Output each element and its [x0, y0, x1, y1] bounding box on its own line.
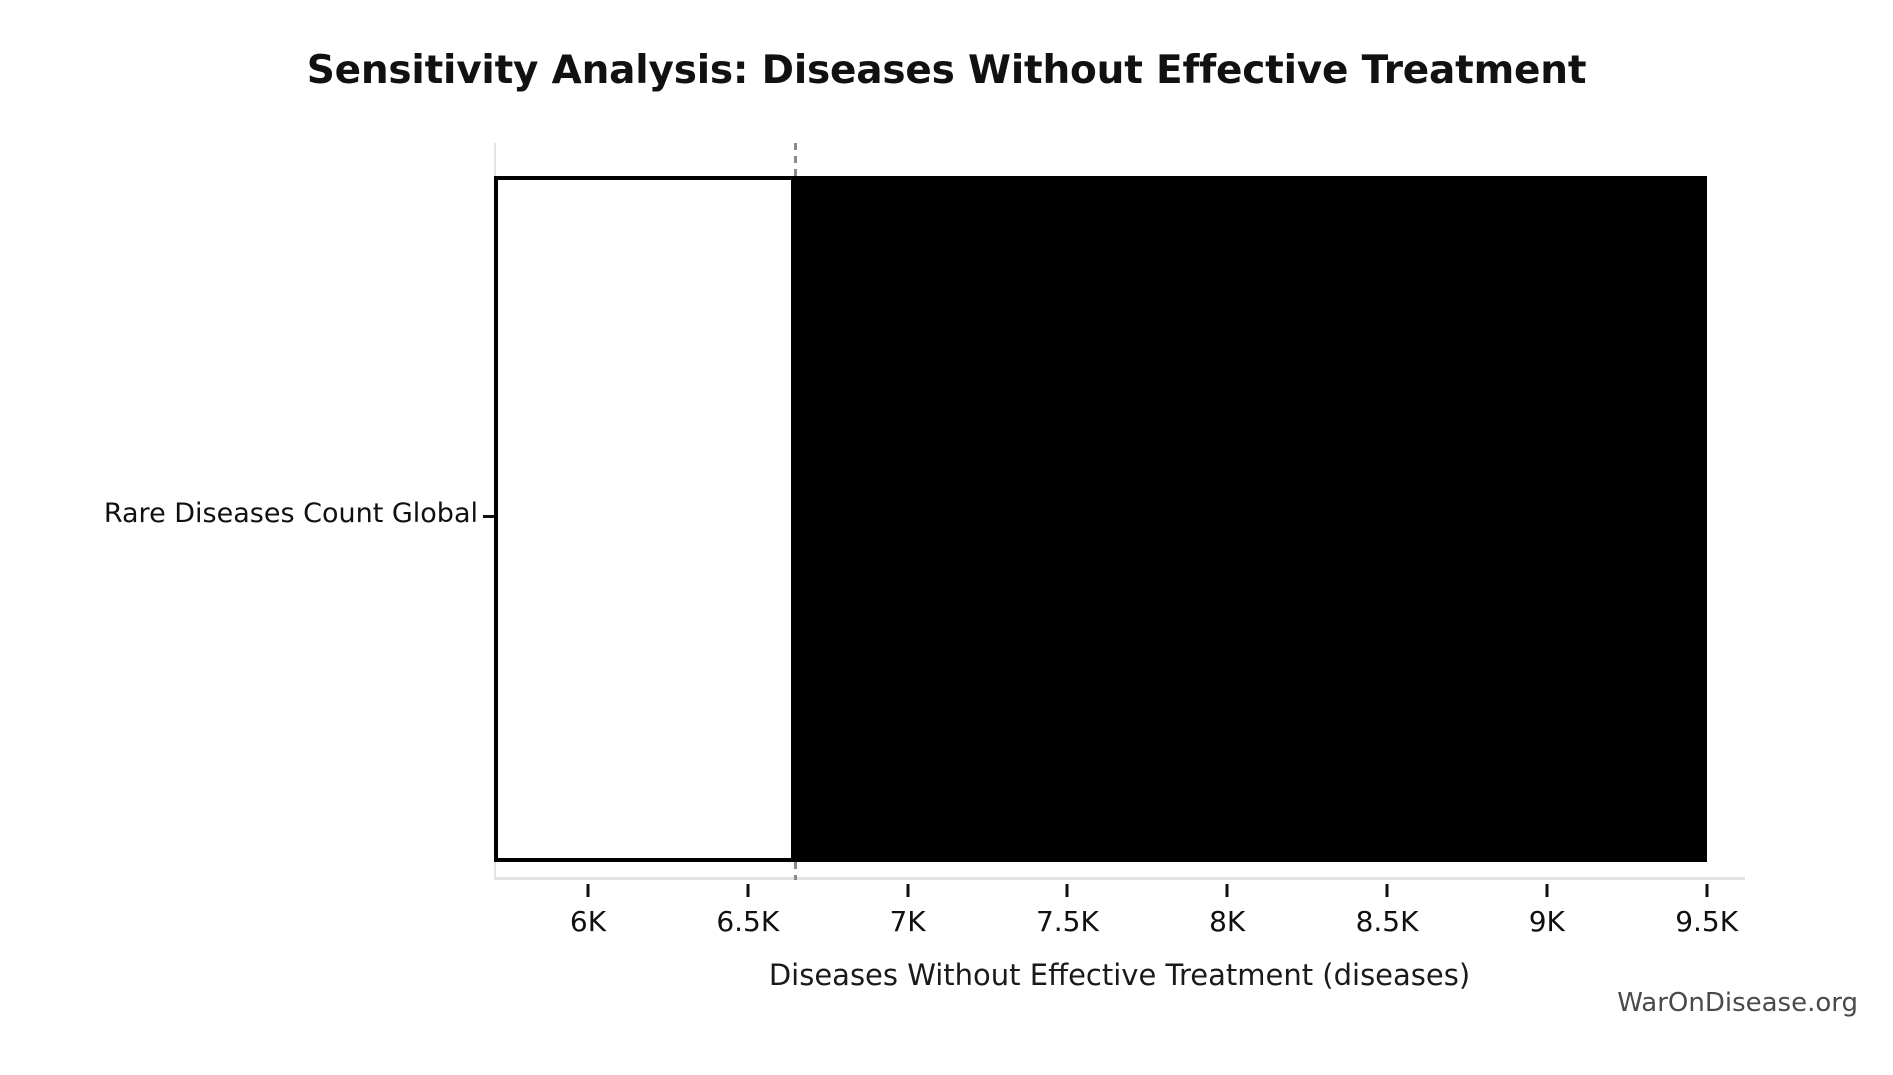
x-axis-title: Diseases Without Effective Treatment (di…: [494, 958, 1745, 992]
x-axis-tick-label: 9.5K: [1675, 905, 1738, 938]
x-axis-tick-label: 8.5K: [1356, 905, 1419, 938]
chart-figure: Sensitivity Analysis: Diseases Without E…: [0, 0, 1893, 1075]
x-axis-tick-mark: [1705, 884, 1708, 897]
x-axis-tick-label: 7K: [889, 905, 925, 938]
x-axis-tick-mark: [906, 884, 909, 897]
x-axis-tick-mark: [586, 884, 589, 897]
chart-title: Sensitivity Analysis: Diseases Without E…: [0, 48, 1893, 93]
x-axis-tick-mark: [1386, 884, 1389, 897]
x-axis-tick-mark: [1226, 884, 1229, 897]
x-axis-tick-mark: [1066, 884, 1069, 897]
bar-segment-low[interactable]: [494, 176, 795, 862]
axis-spine-bottom: [494, 877, 1745, 880]
x-axis-tick-label: 7.5K: [1036, 905, 1099, 938]
watermark: WarOnDisease.org: [1617, 988, 1858, 1018]
x-axis-tick-label: 6.5K: [716, 905, 779, 938]
plot-area: [494, 143, 1745, 880]
x-axis-tick-label: 6K: [570, 905, 606, 938]
x-axis-tick-label: 8K: [1209, 905, 1245, 938]
baseline-reference-line-bottom: [794, 862, 797, 880]
x-axis-tick-label: 9K: [1529, 905, 1565, 938]
y-axis-tick-mark: [483, 515, 494, 518]
bar-segment-high[interactable]: [795, 176, 1707, 862]
x-axis-tick-mark: [746, 884, 749, 897]
x-axis-tick-mark: [1545, 884, 1548, 897]
y-axis-tick-label: Rare Diseases Count Global: [104, 498, 478, 529]
baseline-reference-line-top: [794, 143, 797, 177]
